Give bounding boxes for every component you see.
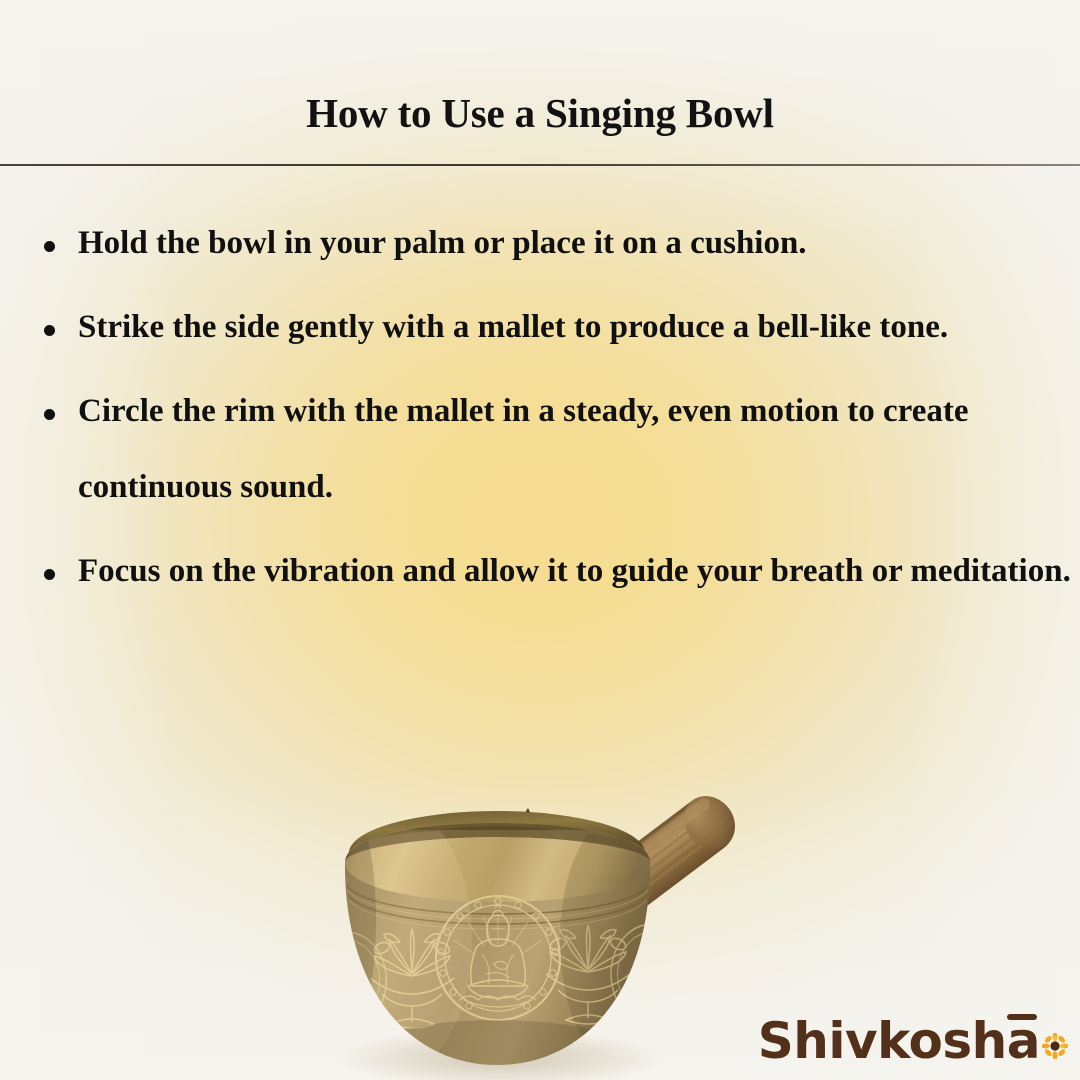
singing-bowl-image — [320, 690, 790, 1080]
bullet-icon — [44, 241, 55, 252]
bullet-icon — [44, 569, 55, 580]
list-item: Circle the rim with the mallet in a stea… — [0, 373, 1078, 525]
poster-canvas: How to Use a Singing Bowl Hold the bowl … — [0, 0, 1080, 1080]
list-item: Focus on the vibration and allow it to g… — [0, 533, 1078, 609]
list-item: Hold the bowl in your palm or place it o… — [0, 205, 1078, 281]
brand-wordmark: Shivkosha — [758, 1012, 1040, 1070]
page-title: How to Use a Singing Bowl — [0, 93, 1080, 134]
bullet-icon — [44, 325, 55, 336]
list-item: Strike the side gently with a mallet to … — [0, 289, 1078, 365]
instruction-list: Hold the bowl in your palm or place it o… — [0, 205, 1080, 617]
list-item-text: Hold the bowl in your palm or place it o… — [78, 225, 807, 261]
macron-accent-icon — [1007, 1014, 1037, 1020]
header: How to Use a Singing Bowl — [0, 0, 1080, 165]
brand-wordmark-wrap: Shivkosha — [758, 1016, 1040, 1066]
header-divider — [0, 164, 1080, 166]
list-item-text: Focus on the vibration and allow it to g… — [78, 553, 1071, 589]
list-item-text: Circle the rim with the mallet in a stea… — [78, 393, 969, 505]
brand-logo[interactable]: Shivkosha — [758, 1016, 1068, 1066]
list-item-text: Strike the side gently with a mallet to … — [78, 309, 948, 345]
sunflower-icon — [1042, 1033, 1068, 1063]
bullet-icon — [44, 409, 55, 420]
